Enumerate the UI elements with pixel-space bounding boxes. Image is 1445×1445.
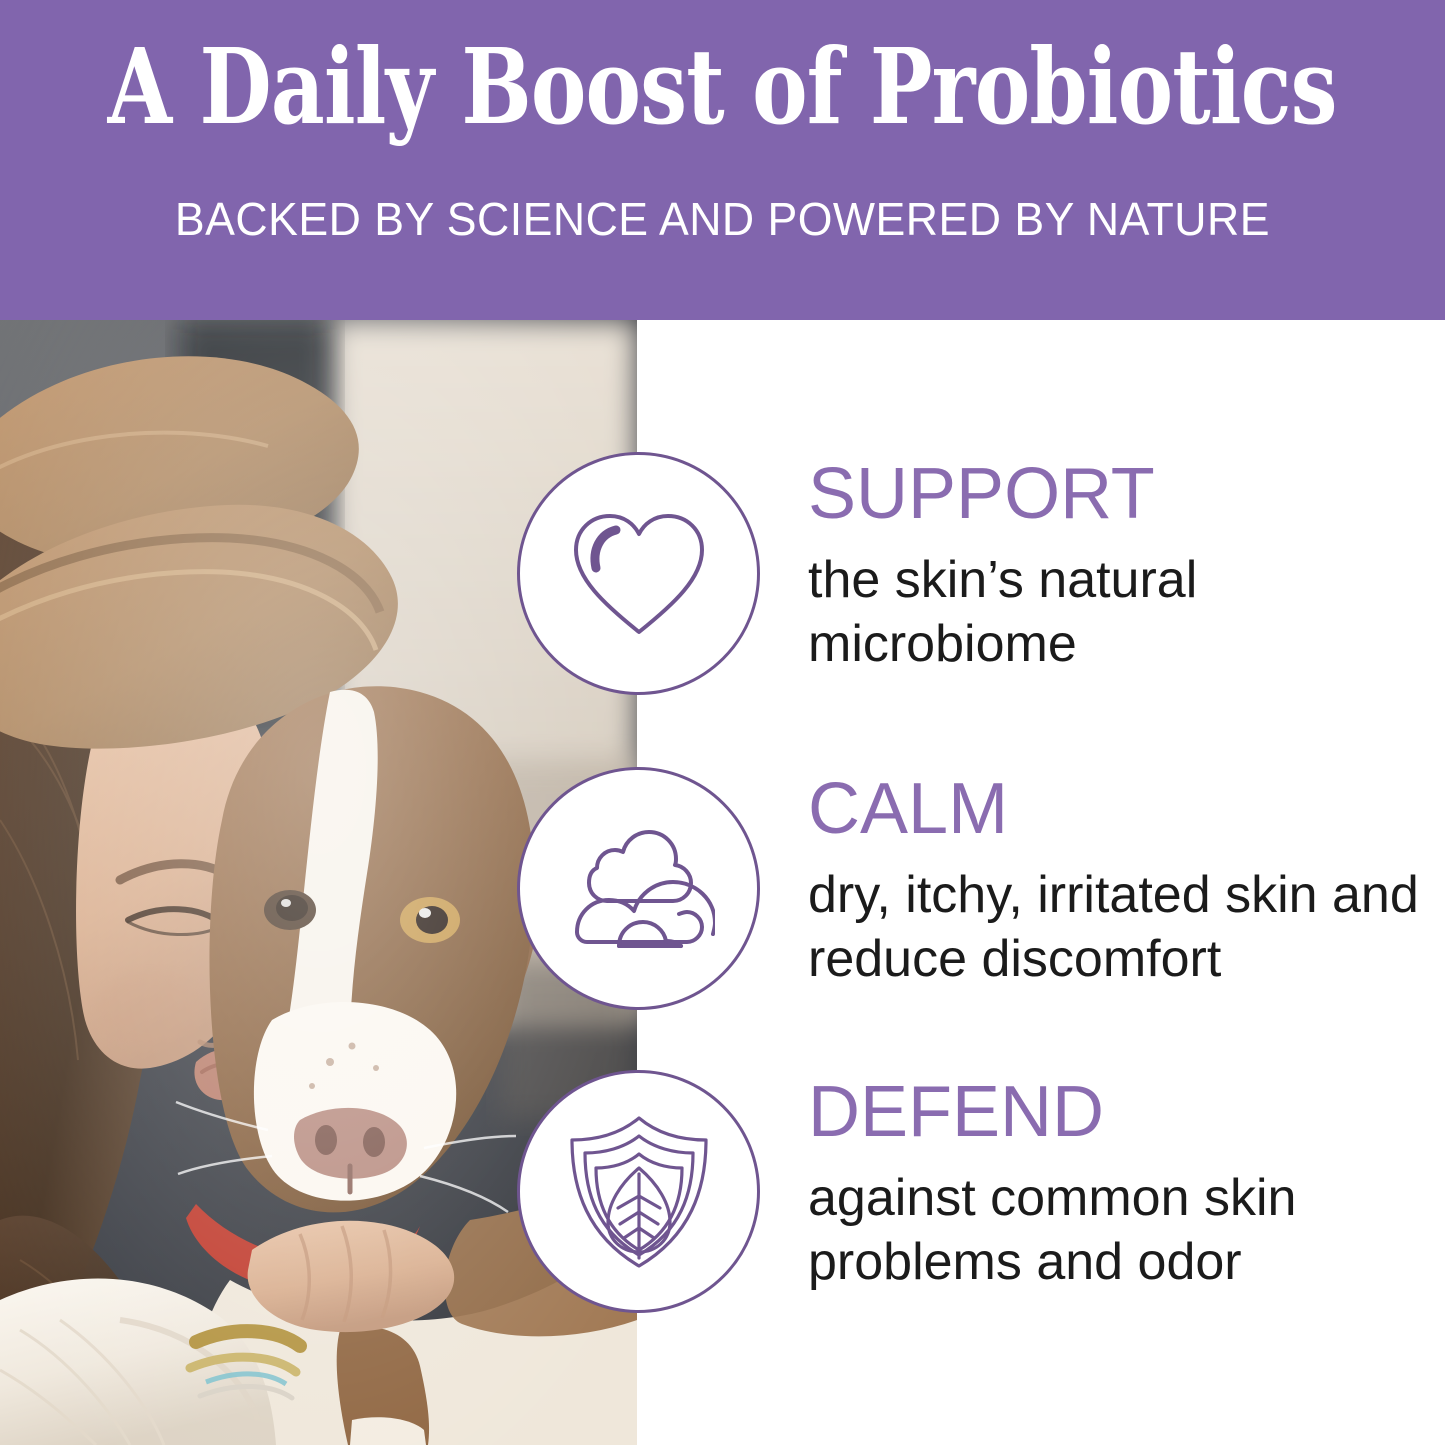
benefit-body: dry, itchy, irritated skin and reduce di… xyxy=(808,863,1428,992)
benefit-item-calm: CALM dry, itchy, irritated skin and redu… xyxy=(517,767,1445,1067)
benefit-heading: DEFEND xyxy=(808,1076,1438,1148)
benefit-body: the skin’s natural microbiome xyxy=(808,548,1428,677)
header-banner: A Daily Boost of Probiotics BACKED BY SC… xyxy=(0,0,1445,320)
benefit-heading: CALM xyxy=(808,773,1438,845)
shield-leaf-icon-circle xyxy=(517,1070,760,1313)
benefit-body: against common skin problems and odor xyxy=(808,1166,1428,1295)
benefit-item-support: SUPPORT the skin’s natural microbiome xyxy=(517,452,1445,752)
clouds-icon xyxy=(563,824,715,954)
benefit-text-support: SUPPORT the skin’s natural microbiome xyxy=(808,458,1438,677)
heart-icon xyxy=(564,504,714,644)
benefit-heading: SUPPORT xyxy=(808,458,1438,530)
promo-graphic: A Daily Boost of Probiotics BACKED BY SC… xyxy=(0,0,1445,1445)
benefits-list: SUPPORT the skin’s natural microbiome xyxy=(517,320,1445,1445)
clouds-icon-circle xyxy=(517,767,760,1010)
page-subtitle: BACKED BY SCIENCE AND POWERED BY NATURE xyxy=(175,192,1270,246)
page-title: A Daily Boost of Probiotics xyxy=(108,34,1337,140)
benefit-text-calm: CALM dry, itchy, irritated skin and redu… xyxy=(808,773,1438,992)
shield-leaf-icon xyxy=(566,1112,712,1272)
benefit-text-defend: DEFEND against common skin problems and … xyxy=(808,1076,1438,1295)
benefit-item-defend: DEFEND against common skin problems and … xyxy=(517,1070,1445,1370)
heart-icon-circle xyxy=(517,452,760,695)
